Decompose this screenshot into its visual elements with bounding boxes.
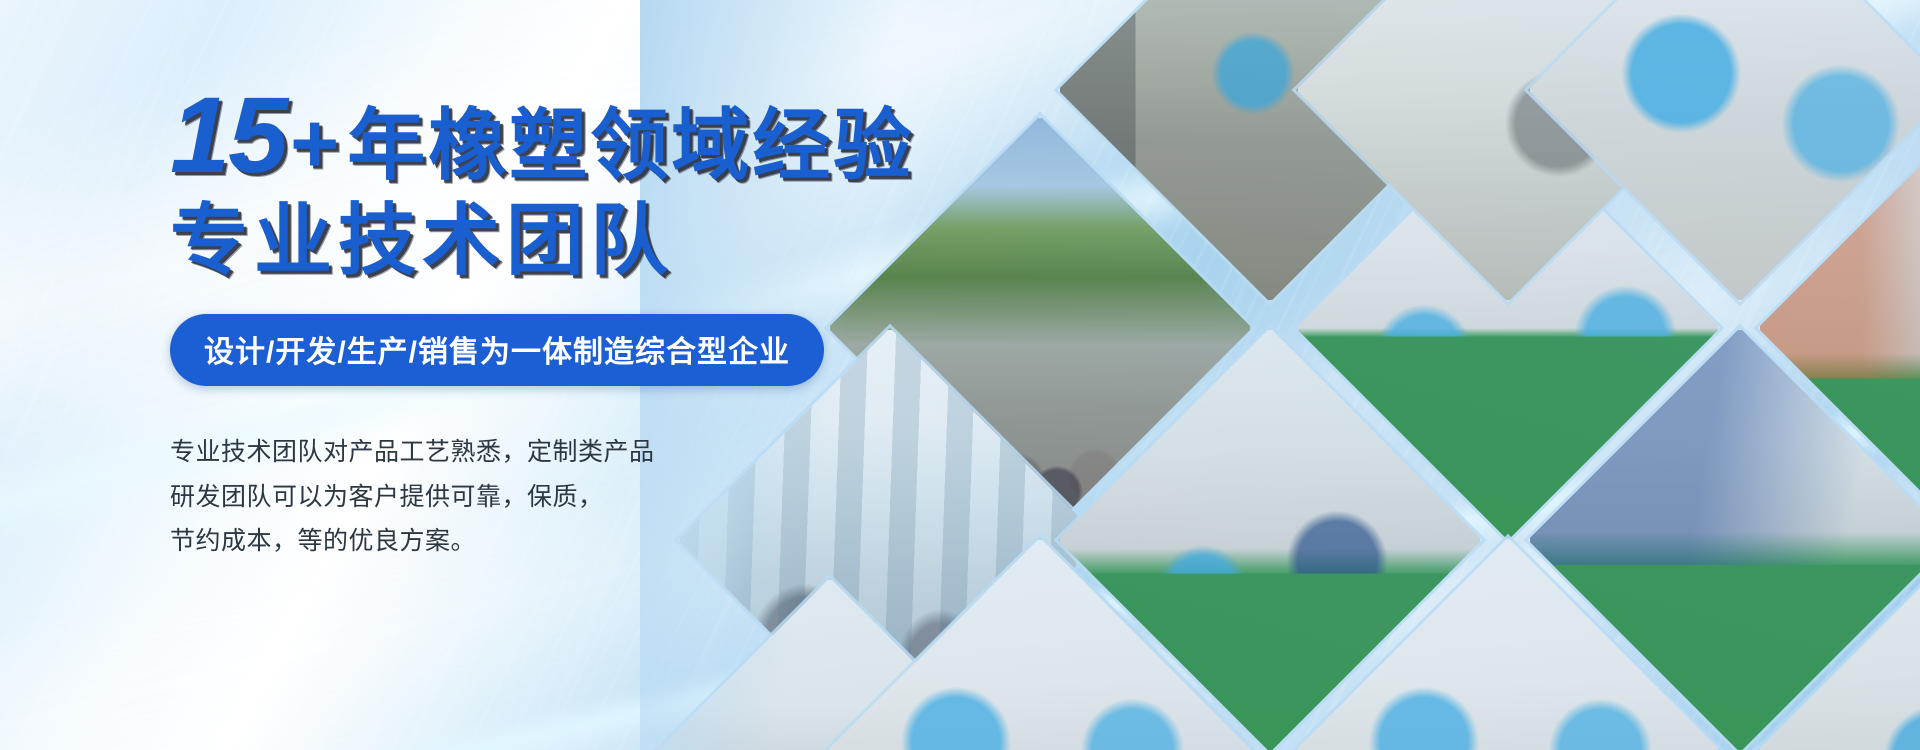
headline-line-2: 专业技术团队	[170, 201, 950, 281]
description-line-2: 研发团队可以为客户提供可靠，保质，	[170, 475, 790, 520]
copy-block: 15 + 年橡塑领域经验 专业技术团队 设计/开发/生产/销售为一体制造综合型企…	[170, 86, 950, 564]
headline-rest: 年橡塑领域经验	[347, 106, 914, 186]
headline-line-1: 15 + 年橡塑领域经验	[170, 86, 950, 187]
tagline-badge: 设计/开发/生产/销售为一体制造综合型企业	[170, 314, 824, 386]
years-number: 15	[170, 86, 286, 183]
description-line-3: 节约成本，等的优良方案。	[170, 519, 790, 564]
promo-banner: 15 + 年橡塑领域经验 专业技术团队 设计/开发/生产/销售为一体制造综合型企…	[0, 0, 1920, 750]
description-line-1: 专业技术团队对产品工艺熟悉，定制类产品	[170, 430, 790, 475]
description-paragraph: 专业技术团队对产品工艺熟悉，定制类产品 研发团队可以为客户提供可靠，保质， 节约…	[170, 430, 790, 564]
plus-sign: +	[290, 101, 341, 187]
